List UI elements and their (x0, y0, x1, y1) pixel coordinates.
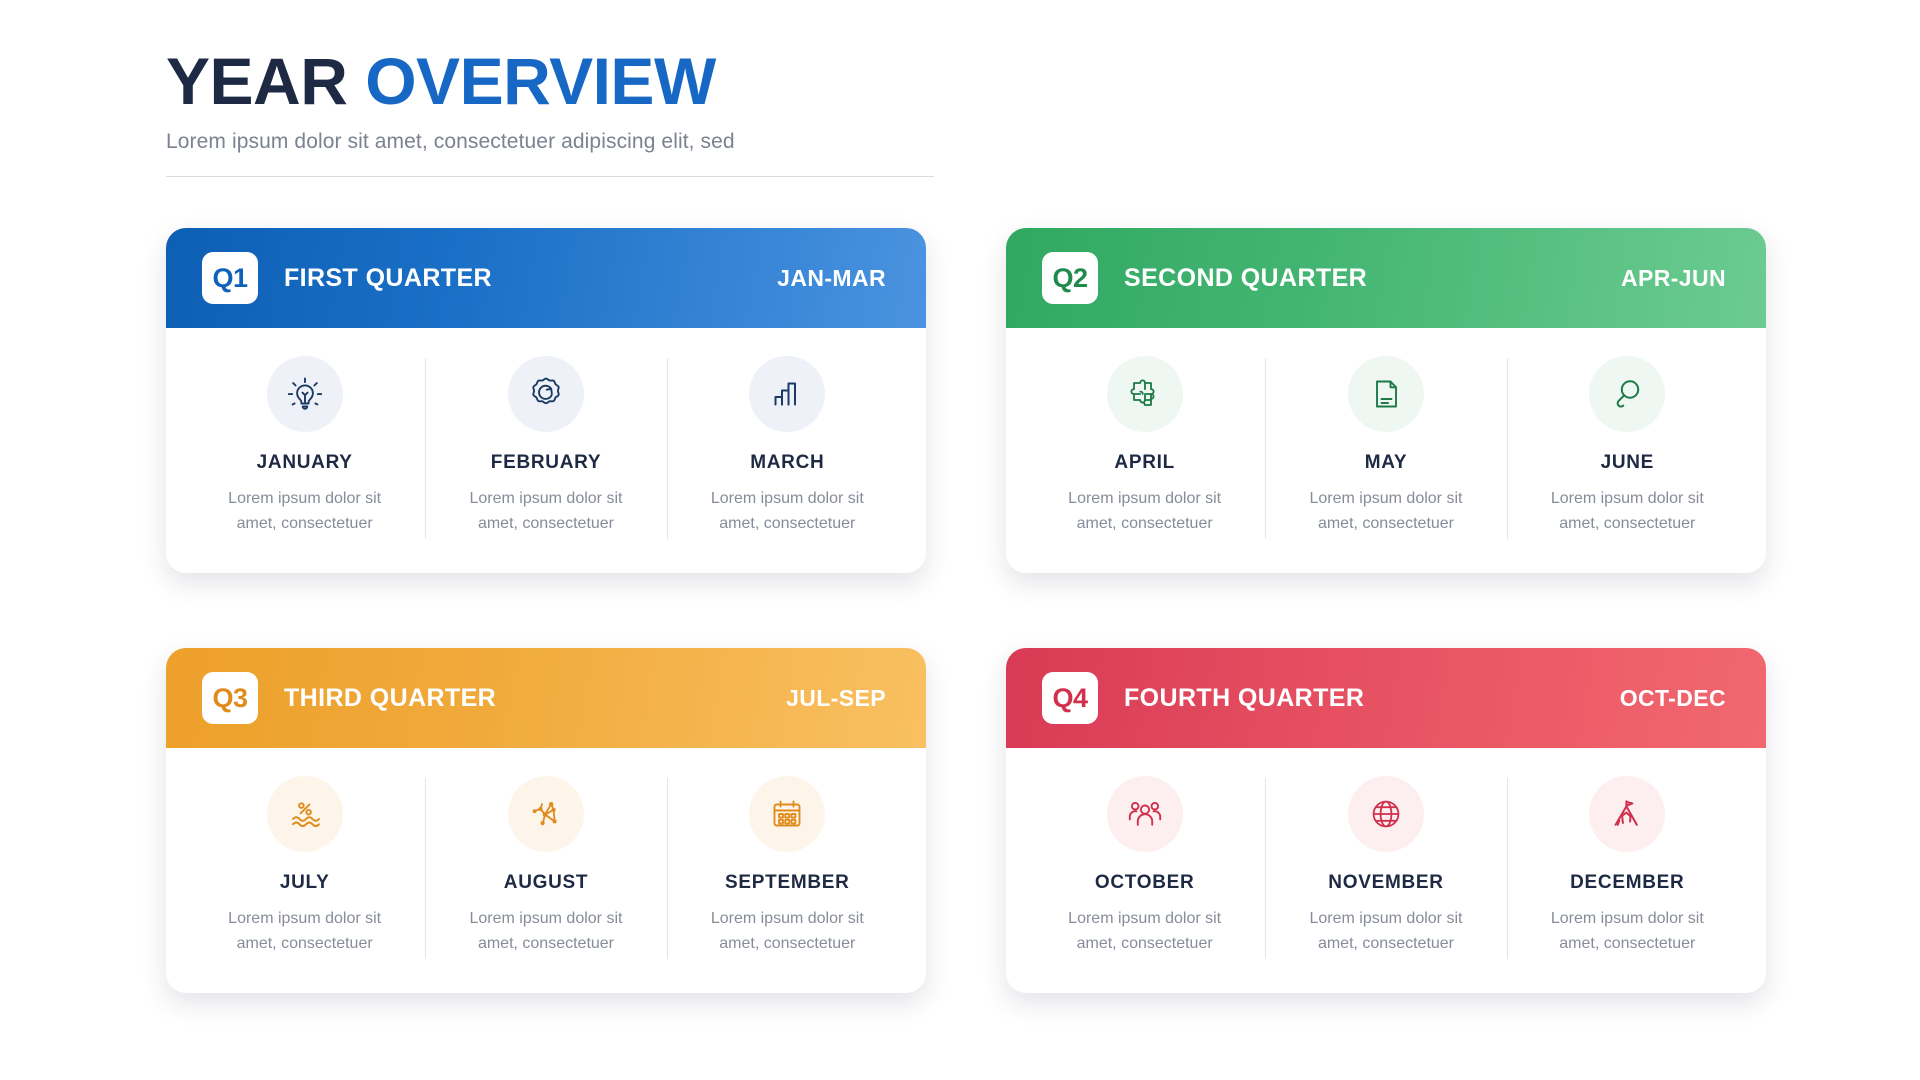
month-name: JANUARY (257, 452, 353, 474)
page-title: YEAR OVERVIEW (166, 48, 946, 114)
month-item-march[interactable]: MARCH Lorem ipsum dolor sit amet, consec… (667, 356, 908, 543)
quarter-range-q1: JAN-MAR (777, 265, 886, 292)
month-description: Lorem ipsum dolor sit amet, consectetuer (1055, 487, 1235, 537)
month-description: Lorem ipsum dolor sit amet, consectetuer (1296, 907, 1476, 957)
month-item-august[interactable]: AUGUST Lorem ipsum dolor sit amet, conse… (425, 776, 666, 963)
month-description: Lorem ipsum dolor sit amet, consectetuer (697, 487, 877, 537)
page-title-second: OVERVIEW (365, 44, 716, 118)
page-subtitle: Lorem ipsum dolor sit amet, consectetuer… (166, 130, 946, 154)
percent-waves-icon (267, 776, 343, 852)
quarter-header-q4: Q4 FOURTH QUARTER OCT-DEC (1006, 648, 1766, 748)
month-item-september[interactable]: SEPTEMBER Lorem ipsum dolor sit amet, co… (667, 776, 908, 963)
magnifier-icon (1589, 356, 1665, 432)
month-description: Lorem ipsum dolor sit amet, consectetuer (1296, 487, 1476, 537)
quarter-range-q2: APR-JUN (1621, 265, 1726, 292)
month-name: MARCH (750, 452, 824, 474)
quarter-title-q3: THIRD QUARTER (284, 684, 496, 713)
mountain-flag-icon (1589, 776, 1665, 852)
quarter-badge-q4: Q4 (1042, 672, 1098, 724)
quarter-body-q3: JULY Lorem ipsum dolor sit amet, consect… (166, 748, 926, 993)
quarter-badge-q2: Q2 (1042, 252, 1098, 304)
quarter-card-q2[interactable]: Q2 SECOND QUARTER APR-JUN APRIL Lorem ip… (1006, 228, 1766, 573)
puzzle-icon (1107, 356, 1183, 432)
month-description: Lorem ipsum dolor sit amet, consectetuer (215, 487, 395, 537)
globe-icon (1348, 776, 1424, 852)
quarter-badge-q1: Q1 (202, 252, 258, 304)
quarter-range-q4: OCT-DEC (1620, 685, 1726, 712)
gear-icon (508, 356, 584, 432)
month-item-october[interactable]: OCTOBER Lorem ipsum dolor sit amet, cons… (1024, 776, 1265, 963)
month-name: DECEMBER (1570, 872, 1684, 894)
network-nodes-icon (508, 776, 584, 852)
calendar-icon (749, 776, 825, 852)
bar-chart-icon (749, 356, 825, 432)
quarter-body-q4: OCTOBER Lorem ipsum dolor sit amet, cons… (1006, 748, 1766, 993)
month-description: Lorem ipsum dolor sit amet, consectetuer (1055, 907, 1235, 957)
month-name: JULY (280, 872, 330, 894)
page-header: YEAR OVERVIEW Lorem ipsum dolor sit amet… (166, 48, 946, 177)
month-name: MAY (1365, 452, 1408, 474)
month-name: SEPTEMBER (725, 872, 850, 894)
month-name: APRIL (1114, 452, 1175, 474)
header-divider (166, 176, 934, 177)
month-item-november[interactable]: NOVEMBER Lorem ipsum dolor sit amet, con… (1265, 776, 1506, 963)
month-name: AUGUST (504, 872, 588, 894)
month-item-december[interactable]: DECEMBER Lorem ipsum dolor sit amet, con… (1507, 776, 1748, 963)
quarter-range-q3: JUL-SEP (786, 685, 886, 712)
month-name: OCTOBER (1095, 872, 1195, 894)
month-description: Lorem ipsum dolor sit amet, consectetuer (1537, 907, 1717, 957)
month-item-april[interactable]: APRIL Lorem ipsum dolor sit amet, consec… (1024, 356, 1265, 543)
month-name: JUNE (1601, 452, 1654, 474)
month-description: Lorem ipsum dolor sit amet, consectetuer (456, 487, 636, 537)
quarter-body-q2: APRIL Lorem ipsum dolor sit amet, consec… (1006, 328, 1766, 573)
month-name: NOVEMBER (1328, 872, 1443, 894)
document-icon (1348, 356, 1424, 432)
month-description: Lorem ipsum dolor sit amet, consectetuer (456, 907, 636, 957)
quarter-card-q3[interactable]: Q3 THIRD QUARTER JUL-SEP JU (166, 648, 926, 993)
quarter-title-q2: SECOND QUARTER (1124, 264, 1367, 293)
month-description: Lorem ipsum dolor sit amet, consectetuer (697, 907, 877, 957)
quarter-header-q1: Q1 FIRST QUARTER JAN-MAR (166, 228, 926, 328)
quarter-badge-q3: Q3 (202, 672, 258, 724)
month-description: Lorem ipsum dolor sit amet, consectetuer (215, 907, 395, 957)
quarter-body-q1: JANUARY Lorem ipsum dolor sit amet, cons… (166, 328, 926, 573)
lightbulb-icon (267, 356, 343, 432)
month-item-january[interactable]: JANUARY Lorem ipsum dolor sit amet, cons… (184, 356, 425, 543)
quarter-title-q4: FOURTH QUARTER (1124, 684, 1364, 713)
month-item-june[interactable]: JUNE Lorem ipsum dolor sit amet, consect… (1507, 356, 1748, 543)
infographic-page: YEAR OVERVIEW Lorem ipsum dolor sit amet… (0, 0, 1920, 1080)
month-item-july[interactable]: JULY Lorem ipsum dolor sit amet, consect… (184, 776, 425, 963)
month-item-may[interactable]: MAY Lorem ipsum dolor sit amet, consecte… (1265, 356, 1506, 543)
month-name: FEBRUARY (491, 452, 601, 474)
month-description: Lorem ipsum dolor sit amet, consectetuer (1537, 487, 1717, 537)
quarter-card-q1[interactable]: Q1 FIRST QUARTER JAN-MAR JANUARY (166, 228, 926, 573)
quarter-card-q4[interactable]: Q4 FOURTH QUARTER OCT-DEC (1006, 648, 1766, 993)
page-title-first: YEAR (166, 44, 347, 118)
people-group-icon (1107, 776, 1183, 852)
quarters-grid: Q1 FIRST QUARTER JAN-MAR JANUARY (166, 228, 1766, 993)
quarter-header-q2: Q2 SECOND QUARTER APR-JUN (1006, 228, 1766, 328)
quarter-header-q3: Q3 THIRD QUARTER JUL-SEP (166, 648, 926, 748)
month-item-february[interactable]: FEBRUARY Lorem ipsum dolor sit amet, con… (425, 356, 666, 543)
quarter-title-q1: FIRST QUARTER (284, 264, 492, 293)
